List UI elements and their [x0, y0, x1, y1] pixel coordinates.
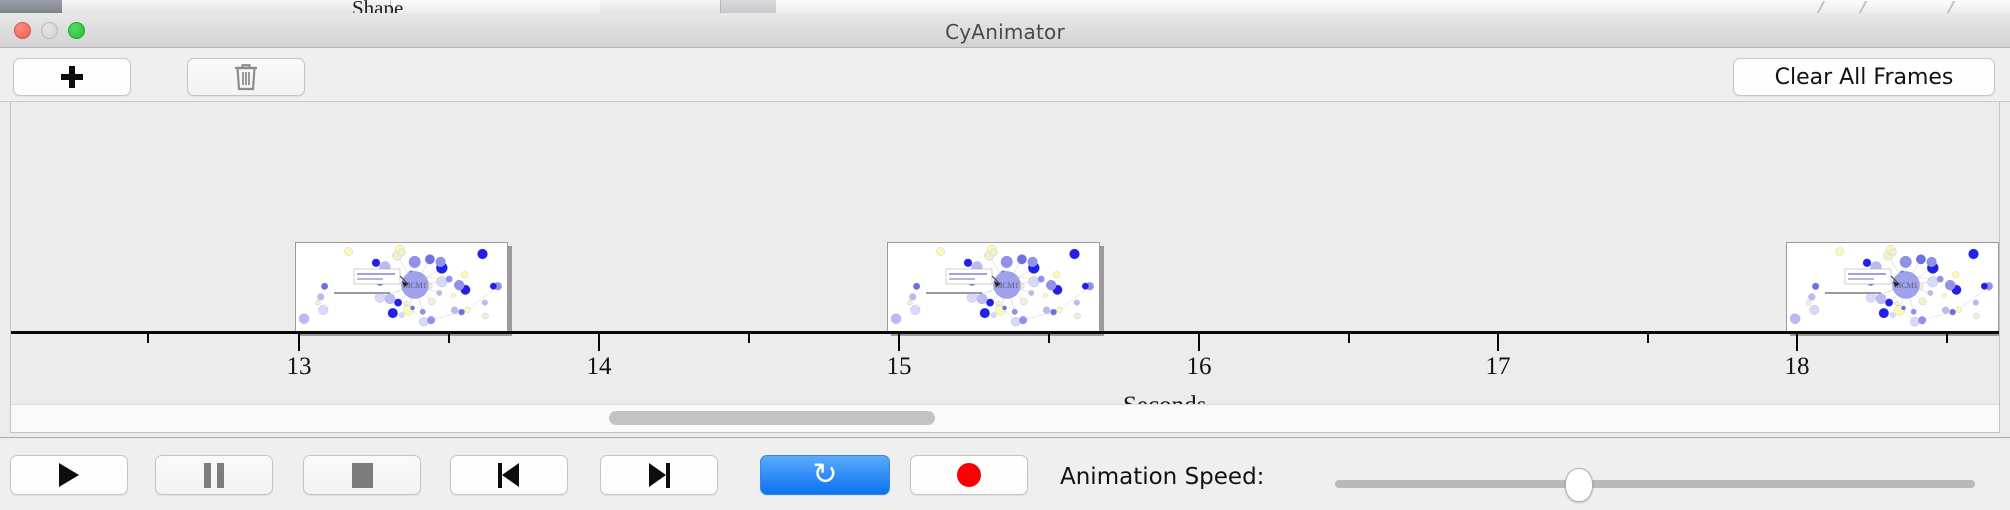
axis-tick [598, 334, 600, 351]
previous-frame-button[interactable] [450, 455, 568, 495]
axis-tick [1497, 334, 1499, 351]
bg-chip [0, 0, 62, 13]
loop-button[interactable]: ↻ [760, 455, 890, 495]
bg-chip [248, 0, 311, 13]
cyanimator-screen: Shape CyAnimator [0, 0, 2010, 510]
playback-controls: ↻ Animation Speed: [0, 437, 2010, 510]
bg-slash [1817, 1, 1825, 13]
axis-tick-label: 18 [1785, 353, 1810, 381]
bg-chip [720, 0, 776, 13]
loop-icon: ↻ [812, 460, 837, 490]
animation-speed-slider[interactable] [1335, 480, 1975, 488]
axis-tick-label: 17 [1486, 353, 1511, 381]
play-button[interactable] [10, 455, 128, 495]
axis-tick-label: 15 [887, 353, 912, 381]
axis-tick-label: 14 [587, 353, 612, 381]
axis-tick [1647, 334, 1649, 343]
timeline-panel[interactable]: MCM1MCM1MCM112131415161718Seconds [10, 102, 2000, 433]
axis-tick [1348, 334, 1350, 343]
frame-toolbar: Clear All Frames [0, 48, 2010, 102]
delete-frame-button[interactable] [187, 58, 305, 96]
window-titlebar[interactable]: CyAnimator [0, 13, 2010, 48]
axis-tick [298, 334, 300, 351]
skip-forward-icon [646, 463, 672, 488]
pause-icon [204, 463, 224, 488]
skip-back-icon [496, 463, 522, 488]
bg-slash [1947, 1, 1955, 13]
bg-slash [1859, 1, 1867, 13]
axis-tick-label: 16 [1187, 353, 1212, 381]
play-icon [59, 463, 79, 487]
stop-button[interactable] [303, 455, 421, 495]
background-window-strip[interactable]: Shape [0, 0, 2010, 14]
timeline-frame-thumbnail[interactable]: MCM1 [295, 242, 508, 332]
cyanimator-window: CyAnimator Clear All Frames [0, 13, 2010, 510]
pause-button[interactable] [155, 455, 273, 495]
axis-tick [1048, 334, 1050, 343]
record-icon [957, 463, 981, 487]
timeline-frame-thumbnail[interactable]: MCM1 [887, 242, 1100, 332]
timeline-axis-line [11, 331, 2000, 334]
trash-icon [233, 62, 259, 92]
stop-icon [352, 463, 373, 488]
timeline-hscrollbar[interactable] [11, 404, 1999, 432]
bg-chip [600, 0, 721, 13]
axis-tick [1198, 334, 1200, 351]
record-button[interactable] [910, 455, 1028, 495]
axis-tick [1946, 334, 1948, 343]
axis-tick [748, 334, 750, 343]
axis-tick [448, 334, 450, 343]
next-frame-button[interactable] [600, 455, 718, 495]
timeline-frame-thumbnail[interactable]: MCM1 [1786, 242, 1999, 332]
bg-chip [62, 0, 191, 13]
bg-chip [190, 0, 249, 13]
clear-all-frames-button[interactable]: Clear All Frames [1733, 58, 1995, 96]
animation-speed-label: Animation Speed: [1060, 464, 1264, 490]
scrollbar-thumb[interactable] [609, 411, 935, 425]
slider-thumb[interactable] [1565, 468, 1593, 502]
window-title: CyAnimator [0, 20, 2010, 44]
axis-tick [1796, 334, 1798, 351]
timeline-canvas[interactable]: MCM1MCM1MCM112131415161718Seconds [11, 102, 1999, 432]
plus-icon [61, 66, 83, 88]
axis-tick-label: 13 [287, 353, 312, 381]
axis-tick [898, 334, 900, 351]
bg-window-label: Shape [352, 0, 403, 14]
clear-all-frames-label: Clear All Frames [1775, 65, 1954, 90]
axis-tick [147, 334, 149, 343]
add-frame-button[interactable] [13, 58, 131, 96]
